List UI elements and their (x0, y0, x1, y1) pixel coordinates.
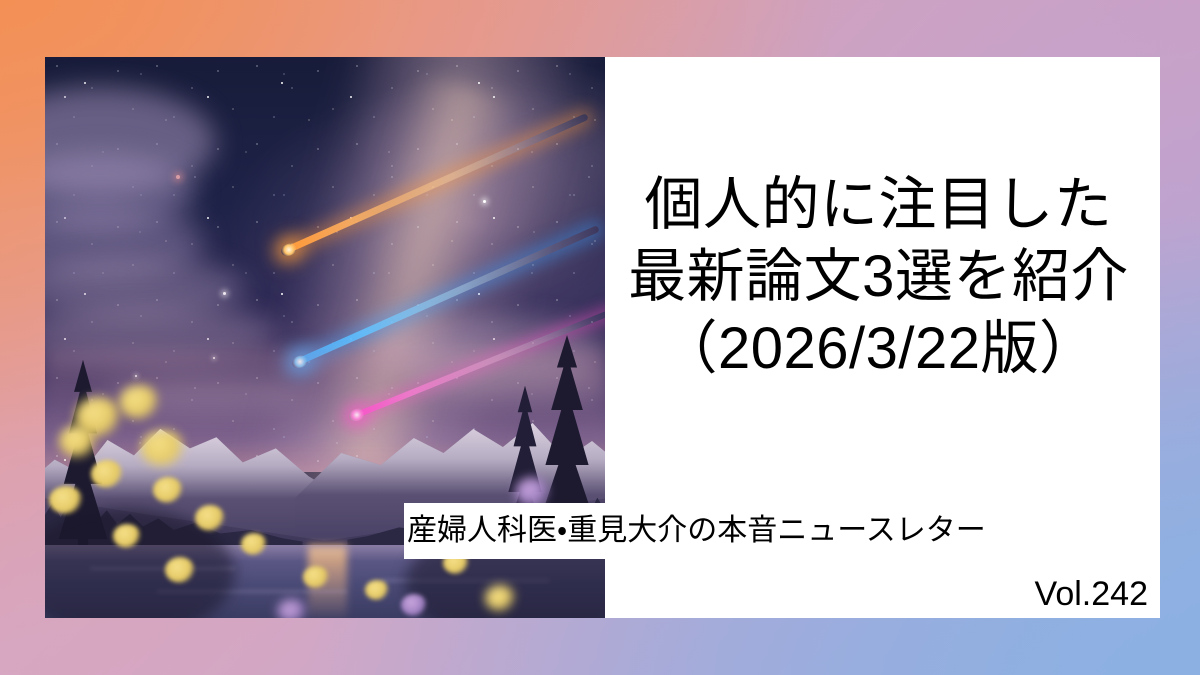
yellow-flower (153, 477, 183, 503)
newsletter-subtitle: 産婦人科医・重見大介の本音ニュースレター (404, 513, 986, 549)
yellow-flower (141, 430, 185, 466)
purple-flower (277, 599, 307, 618)
newsletter-cover: 個人的に注目した 最新論文3選を紹介 （2026/3/22版） 産婦人科医・重見… (0, 0, 1200, 675)
volume-number: Vol.242 (1035, 574, 1148, 614)
yellow-flower (485, 585, 515, 611)
yellow-flower (49, 486, 83, 514)
yellow-flower (165, 557, 195, 583)
landscape (45, 382, 605, 618)
yellow-flower (59, 425, 97, 457)
yellow-flower (241, 533, 267, 555)
yellow-flower (119, 385, 159, 419)
page-title: 個人的に注目した 最新論文3選を紹介 （2026/3/22版） (605, 169, 1152, 385)
yellow-flower (195, 505, 225, 531)
title-card: 個人的に注目した 最新論文3選を紹介 （2026/3/22版） 産婦人科医・重見… (605, 57, 1160, 618)
title-line-3: （2026/3/22版） (605, 313, 1152, 385)
yellow-flower (303, 566, 329, 588)
title-line-1: 個人的に注目した (605, 169, 1152, 241)
title-line-2: 最新論文3選を紹介 (605, 241, 1152, 313)
yellow-flower (113, 524, 141, 548)
subtitle-band: 産婦人科医・重見大介の本音ニュースレター (404, 503, 1160, 559)
bright-star (483, 200, 486, 203)
yellow-flower (91, 460, 123, 488)
